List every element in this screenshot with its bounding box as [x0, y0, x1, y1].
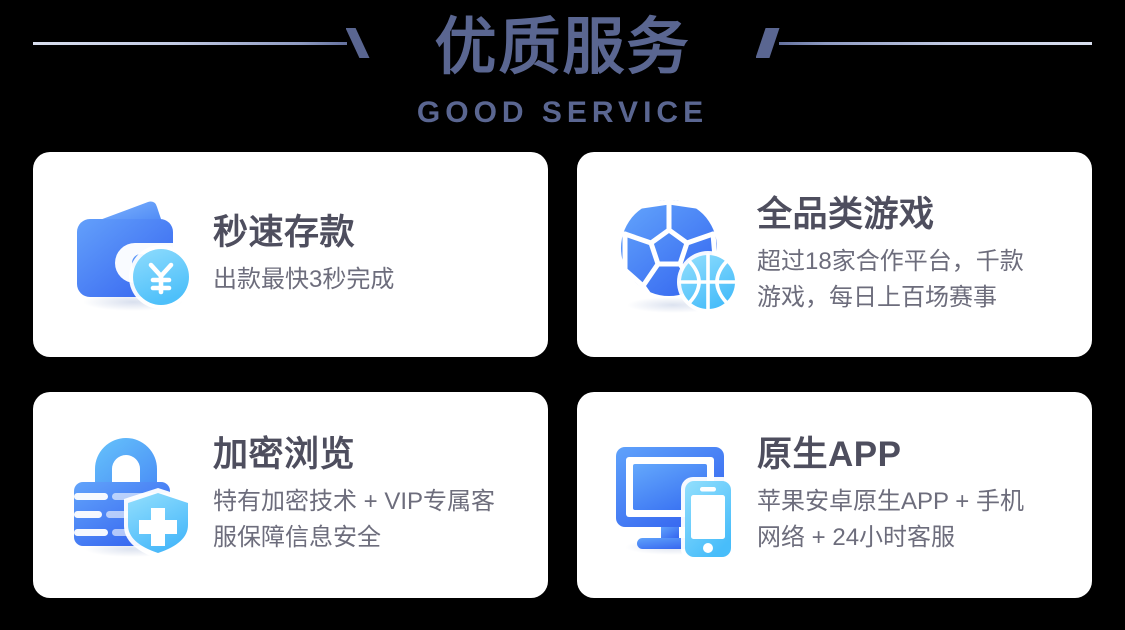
- card-text: 秒速存款 出款最快3秒完成: [213, 212, 522, 298]
- card-description-line: 游戏，每日上百场赛事: [757, 280, 1066, 316]
- service-card[interactable]: 全品类游戏 超过18家合作平台，千款 游戏，每日上百场赛事: [577, 152, 1092, 357]
- card-description-line: 特有加密技术 + VIP专属客: [213, 484, 522, 520]
- card-description: 出款最快3秒完成: [213, 262, 522, 298]
- card-description-line: 超过18家合作平台，千款: [757, 244, 1066, 280]
- lock-shield-icon: [63, 425, 203, 565]
- service-card[interactable]: 加密浏览 特有加密技术 + VIP专属客 服保障信息安全: [33, 392, 548, 598]
- card-description: 特有加密技术 + VIP专属客 服保障信息安全: [213, 484, 522, 556]
- card-description: 超过18家合作平台，千款 游戏，每日上百场赛事: [757, 244, 1066, 316]
- page-subtitle: GOOD SERVICE: [0, 96, 1125, 130]
- card-description: 苹果安卓原生APP + 手机 网络 + 24小时客服: [757, 484, 1066, 556]
- card-title: 加密浏览: [213, 434, 522, 476]
- card-description-line: 网络 + 24小时客服: [757, 520, 1066, 556]
- service-card-grid: 秒速存款 出款最快3秒完成: [33, 152, 1092, 598]
- page-title: 优质服务: [0, 6, 1125, 90]
- wallet-yen-icon: [63, 185, 203, 325]
- soccer-basketball-icon: [607, 185, 747, 325]
- monitor-phone-icon: [607, 425, 747, 565]
- card-description-line: 苹果安卓原生APP + 手机: [757, 484, 1066, 520]
- service-card[interactable]: 秒速存款 出款最快3秒完成: [33, 152, 548, 357]
- card-description-line: 服保障信息安全: [213, 520, 522, 556]
- card-title: 秒速存款: [213, 212, 522, 254]
- card-text: 全品类游戏 超过18家合作平台，千款 游戏，每日上百场赛事: [757, 194, 1066, 316]
- service-card[interactable]: 原生APP 苹果安卓原生APP + 手机 网络 + 24小时客服: [577, 392, 1092, 598]
- card-text: 原生APP 苹果安卓原生APP + 手机 网络 + 24小时客服: [757, 434, 1066, 556]
- card-description-line: 出款最快3秒完成: [213, 262, 522, 298]
- page-header: 优质服务 GOOD SERVICE: [0, 0, 1125, 140]
- card-title: 全品类游戏: [757, 194, 1066, 236]
- card-text: 加密浏览 特有加密技术 + VIP专属客 服保障信息安全: [213, 434, 522, 556]
- card-title: 原生APP: [757, 434, 1066, 476]
